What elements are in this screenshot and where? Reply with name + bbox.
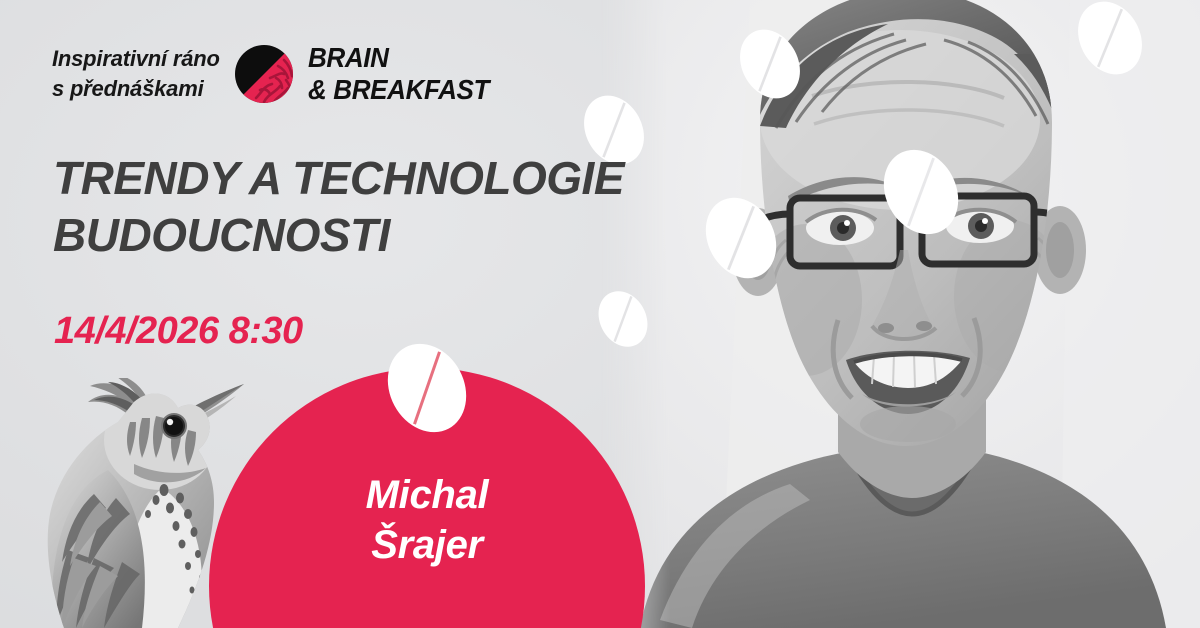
headline-line-1: TRENDY A TECHNOLOGIE (53, 150, 673, 207)
event-poster: Inspirativní ráno s přednáškami (0, 0, 1200, 628)
brand-line-2: & BREAKFAST (308, 74, 489, 106)
headline-line-2: BUDOUCNOSTI (53, 207, 673, 264)
event-tagline: Inspirativní ráno s přednáškami (52, 44, 220, 104)
pill-tablet-shape (390, 342, 464, 434)
brain-circle-icon (234, 44, 294, 104)
pill-tablet-shape (886, 148, 956, 236)
speaker-portrait-photo (600, 0, 1200, 628)
tagline-line-1: Inspirativní ráno (52, 44, 220, 74)
speaker-first-name: Michal (209, 470, 645, 520)
brand-header: Inspirativní ráno s přednáškami (52, 42, 502, 106)
page-title: TRENDY A TECHNOLOGIE BUDOUCNOSTI (53, 150, 673, 264)
tagline-line-2: s přednáškami (52, 74, 220, 104)
pill-tablet-shape (742, 28, 798, 100)
brand-wordmark: BRAIN & BREAKFAST (308, 42, 489, 106)
pill-tablet-shape (600, 290, 646, 348)
pill-tablet-shape (708, 196, 774, 280)
brand-line-1: BRAIN (308, 42, 489, 74)
event-datetime: 14/4/2026 8:30 (54, 308, 303, 354)
speaker-name: Michal Šrajer (209, 470, 645, 570)
speaker-last-name: Šrajer (209, 520, 645, 570)
pill-tablet-shape (1080, 0, 1140, 76)
